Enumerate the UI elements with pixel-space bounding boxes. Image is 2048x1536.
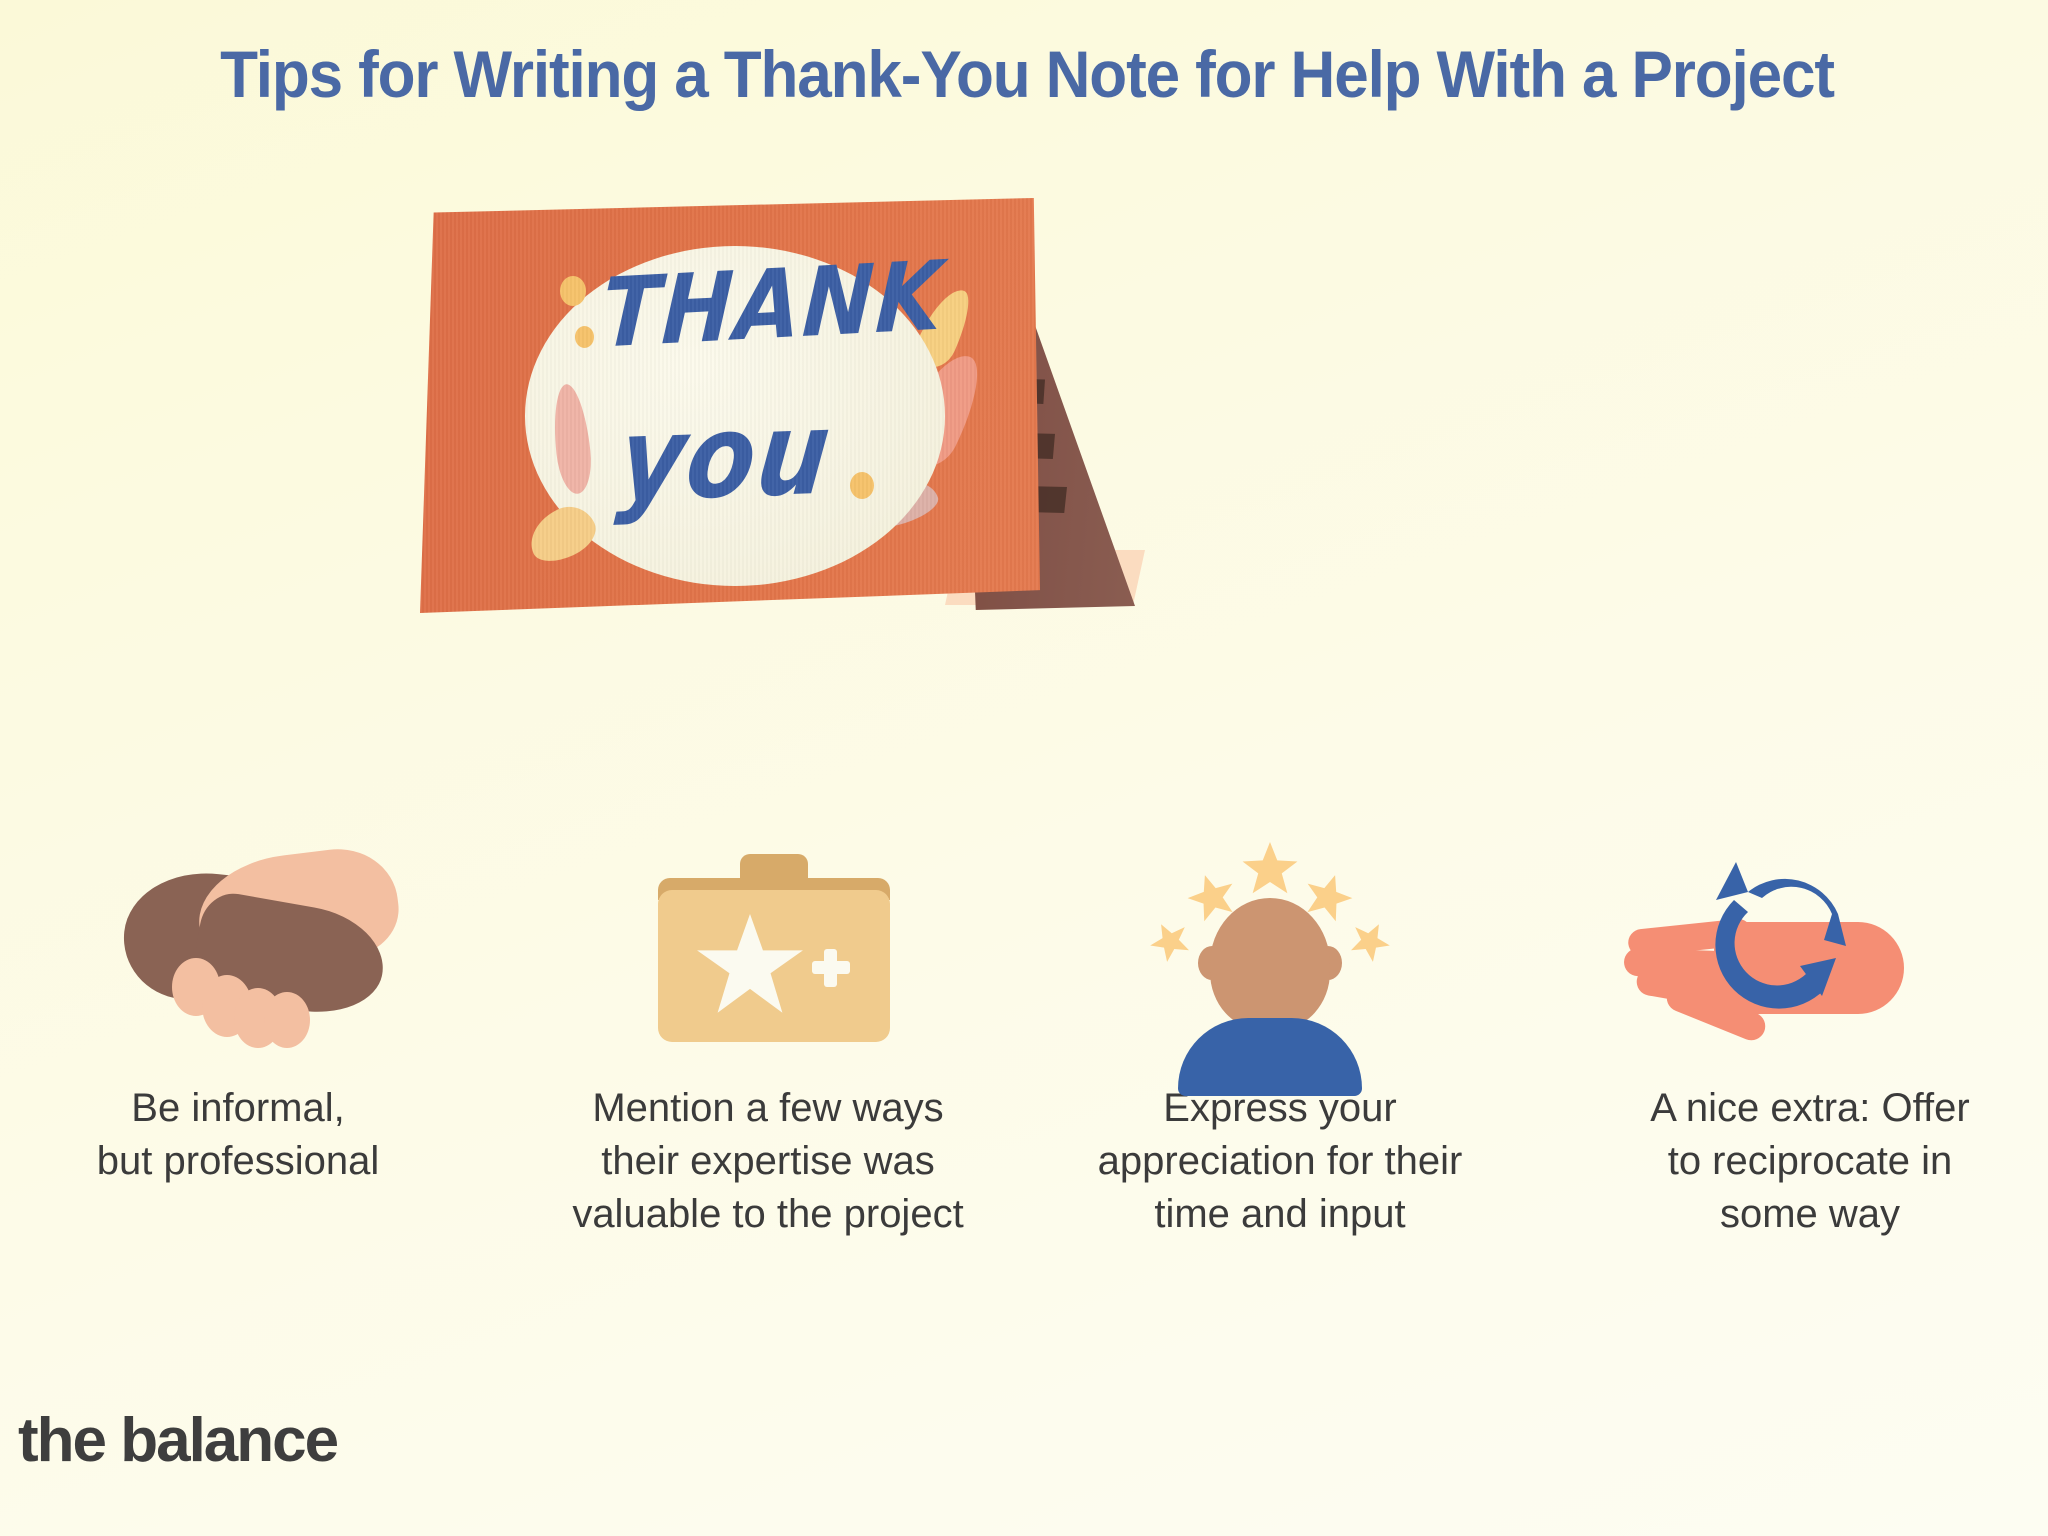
thank-you-card-illustration: THANK you: [415, 180, 1145, 630]
tip-caption: Mention a few ways their expertise was v…: [558, 1082, 978, 1242]
tip-caption: Be informal, but professional: [28, 1082, 448, 1188]
tip-caption: Express your appreciation for their time…: [1070, 1082, 1490, 1242]
tip-item-appreciation: Express your appreciation for their time…: [1024, 840, 1536, 1242]
accent-dot-icon: [575, 326, 594, 348]
person-five-stars-icon: [1130, 840, 1430, 1060]
briefcase-star-icon: [618, 840, 918, 1060]
card-lettering-line-1: THANK: [599, 241, 946, 370]
person-shirt: [1178, 1018, 1362, 1096]
circular-arrows-icon: [1696, 848, 1886, 1038]
accent-dot-icon: [850, 472, 874, 499]
star-icon: [1143, 915, 1196, 967]
accent-dot-icon: [560, 276, 586, 306]
star-icon: [1242, 842, 1298, 896]
plus-icon: [824, 949, 837, 987]
star-icon: [1343, 915, 1396, 967]
card-front-panel: THANK you: [420, 198, 1040, 613]
tip-item-expertise: Mention a few ways their expertise was v…: [512, 840, 1024, 1242]
card-lettering-line-2: you: [613, 385, 838, 527]
card-stage: THANK you: [415, 180, 1145, 630]
tip-caption: A nice extra: Offer to reciprocate in so…: [1600, 1082, 2020, 1242]
handshake-finger: [264, 992, 310, 1048]
brand-logo: the balance: [18, 1405, 337, 1476]
tip-item-informal: Be informal, but professional: [0, 840, 512, 1242]
tips-row: Be informal, but professional Mention a …: [0, 840, 2048, 1242]
tip-item-reciprocate: A nice extra: Offer to reciprocate in so…: [1536, 840, 2048, 1242]
hand-recycle-arrows-icon: [1642, 840, 1942, 1060]
handshake-icon: [106, 840, 406, 1060]
page-title: Tips for Writing a Thank-You Note for He…: [47, 36, 2008, 112]
